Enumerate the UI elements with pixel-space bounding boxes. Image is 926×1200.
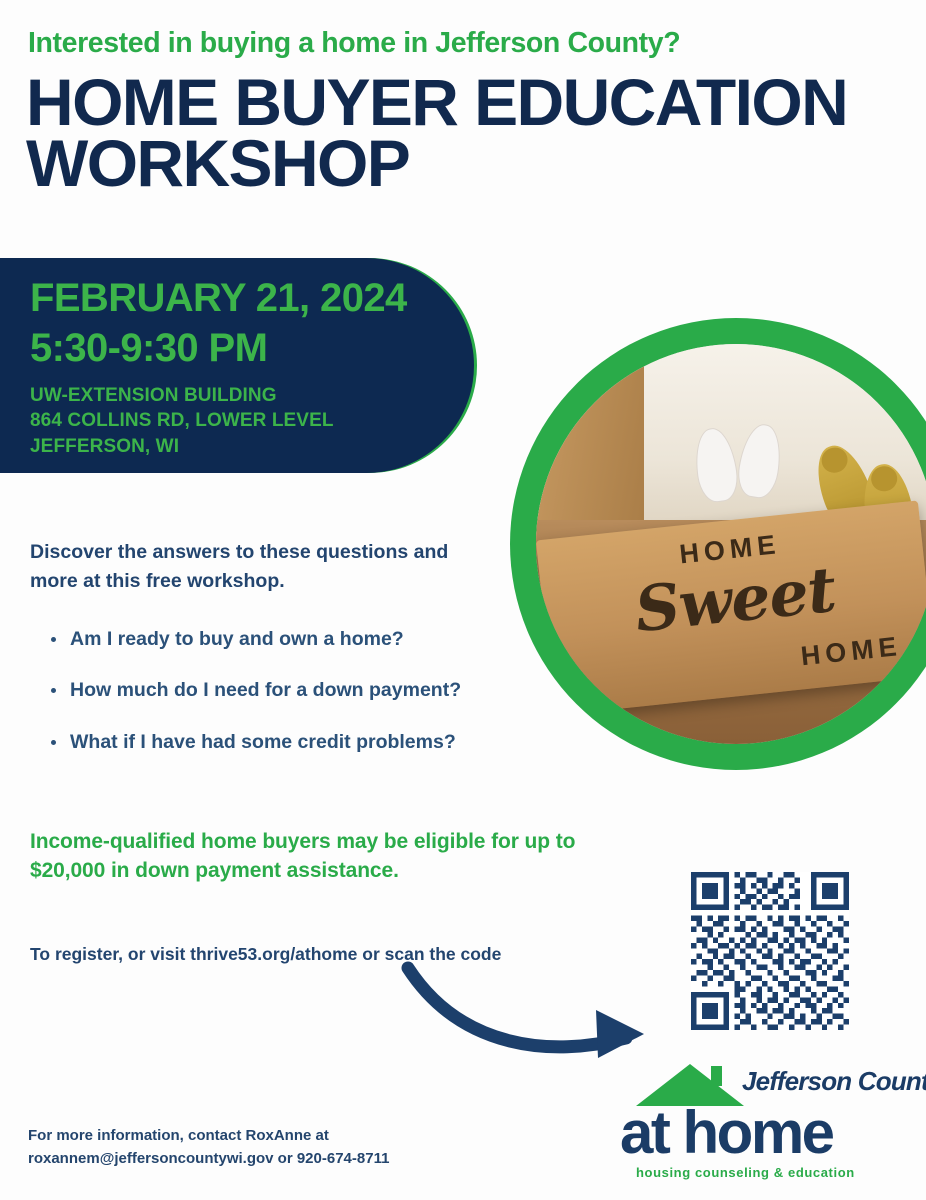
curved-arrow-icon [400, 960, 660, 1070]
contact-info: For more information, contact RoxAnne at… [28, 1124, 568, 1171]
contact-line-2: roxannem@jeffersoncountywi.gov or 920-67… [28, 1147, 568, 1170]
event-venue: UW-EXTENSION BUILDING 864 COLLINS RD, LO… [30, 383, 334, 459]
list-item: How much do I need for a down payment? [44, 679, 524, 702]
event-details-panel: FEBRUARY 21, 2024 5:30-9:30 PM UW-EXTENS… [0, 258, 474, 473]
photo-ring: HOME Sweet HOME [510, 318, 926, 770]
logo-county-text: Jefferson County [742, 1066, 926, 1097]
intro-text: Discover the answers to these questions … [30, 538, 470, 596]
home-sweet-home-photo: HOME Sweet HOME [536, 344, 926, 744]
logo-tagline-text: housing counseling & education [636, 1165, 855, 1180]
qr-code[interactable] [691, 872, 849, 1030]
venue-city: JEFFERSON, WI [30, 434, 334, 459]
contact-line-1: For more information, contact RoxAnne at [28, 1124, 568, 1147]
list-item: What if I have had some credit problems? [44, 731, 524, 754]
title-line-2: WORKSHOP [26, 133, 906, 194]
page-title: HOME BUYER EDUCATION WORKSHOP [26, 72, 906, 195]
chimney-icon [711, 1066, 722, 1086]
jefferson-county-at-home-logo: Jefferson County at home housing counsel… [614, 1062, 914, 1194]
list-item: Am I ready to buy and own a home? [44, 628, 524, 651]
event-date: FEBRUARY 21, 2024 [30, 276, 407, 321]
questions-list: Am I ready to buy and own a home? How mu… [44, 628, 524, 782]
assistance-text: Income-qualified home buyers may be elig… [30, 828, 630, 886]
eyebrow-text: Interested in buying a home in Jefferson… [28, 27, 888, 60]
venue-street: 864 COLLINS RD, LOWER LEVEL [30, 408, 334, 433]
flyer-page: Interested in buying a home in Jefferson… [0, 0, 926, 1200]
event-time: 5:30-9:30 PM [30, 326, 267, 371]
venue-name: UW-EXTENSION BUILDING [30, 383, 334, 408]
logo-name-text: at home [620, 1098, 833, 1167]
